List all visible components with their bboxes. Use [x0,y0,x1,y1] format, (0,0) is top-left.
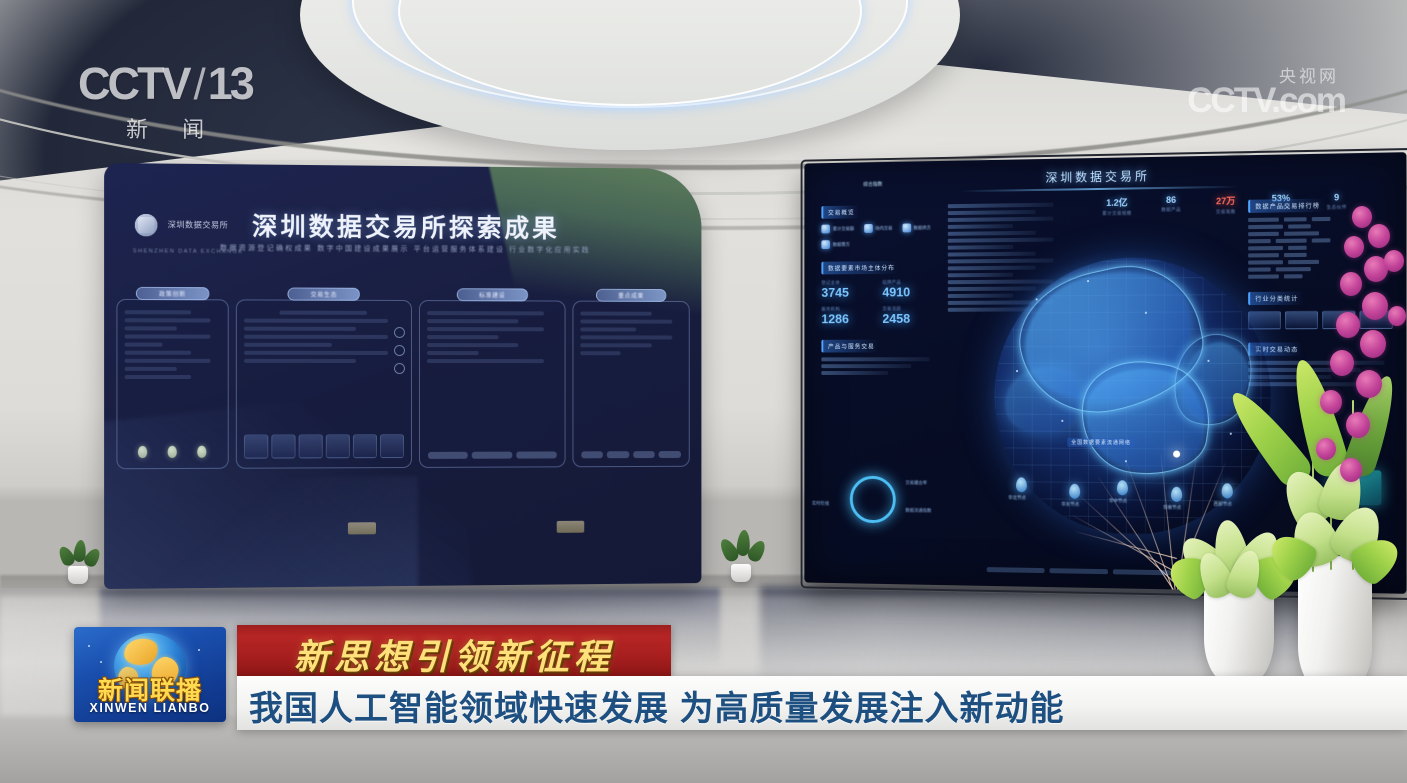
panel-line [427,351,479,355]
panel-chip [633,451,655,458]
map-pin-label: 华东节点 [1061,502,1079,508]
led-gauge-right-label-2: 数据流通指数 [905,508,931,514]
exhibit-panel-3-label: 标准建设 [419,290,565,300]
exhibit-panel-4-body [580,312,682,460]
flower-bloom [1368,224,1390,248]
led-metric: 数据供方 [902,223,931,232]
headline-bar: 我国人工智能领域快速发展 为高质量发展注入新动能 [237,676,1407,730]
metric-icon [821,225,830,234]
led-kpi: 1.2亿 累计交易规模 [1095,195,1139,217]
led-gauge-right-label-1: 交易撮合率 [905,480,927,486]
small-pot-left [68,566,88,584]
led-kpi: 27万 交易笔数 [1203,194,1248,216]
panel-chip [472,452,512,459]
panel-chip [659,451,681,458]
panel-line [427,327,545,331]
broadcast-frame: 深圳数据交易所 SHENZHEN DATA EXCHANGE 深圳数据交易所探索… [0,0,1407,783]
exhibit-wall-plaque [557,521,585,533]
circle-icon [394,345,405,356]
badge-star [198,649,200,651]
metric-label: 数据供方 [914,225,931,231]
panel-line [125,359,211,363]
exhibit-panel-2-label: 交易生态 [235,289,411,299]
map-hub-node [1173,451,1180,458]
led-globe-visualization: 全国数据要素流通网络 华北节点 华东节点 华中节点 华南节点 西部节点 [977,248,1297,543]
led-row [948,217,1054,222]
metric-label: 数据需方 [833,241,850,247]
led-cell [1276,239,1307,243]
panel-chip [516,451,556,458]
flower-bloom [1330,350,1354,376]
led-kpi: 86 数据产品 [1149,195,1193,214]
map-pin [1016,477,1027,492]
panel-line [243,335,387,339]
exhibit-panel-4-card [572,301,690,468]
panel-line [125,310,192,314]
map-pin [1222,483,1233,498]
panel-line [580,335,672,339]
led-cell [1288,224,1311,228]
circle-icon [394,363,405,374]
flower-bloom [1362,292,1388,320]
metric-icon [821,240,830,249]
badge-star [100,661,102,663]
globe-star [1087,280,1089,282]
globe-star [1207,360,1209,362]
panel-chip [607,451,629,458]
panel-line [580,343,652,347]
map-pin [1171,487,1182,502]
exhibit-panel-4: 重点成果 [572,289,690,468]
flower-bloom [1346,412,1370,438]
panel-line [427,319,519,323]
headline-text: 我国人工智能领域快速发展 为高质量发展注入新动能 [249,681,1407,730]
exhibit-panel-4-label: 重点成果 [572,291,690,300]
panel-line [427,335,499,339]
flower-bloom [1344,236,1364,258]
flower-bloom [1336,312,1360,338]
panel-line [125,334,211,338]
panel-line [125,343,163,347]
small-pot-center [731,564,751,582]
metric-icon [902,223,911,232]
panel-line [243,343,331,347]
led-gauge-left-label: 实时在线 [812,501,829,507]
led-kpi-value: 27万 [1203,194,1248,208]
led-metric: 数据需方 [821,240,849,249]
flower-bloom [1316,438,1336,460]
led-kpi-value: 86 [1149,195,1193,206]
flower-bloom [1360,330,1386,358]
led-kpi-value: 1.2亿 [1095,195,1139,209]
flower-bloom [1320,390,1342,414]
flower-bloom [1340,458,1362,482]
exhibit-panel-1-label: 政策创新 [116,289,228,299]
led-footer-cell [1049,568,1107,574]
exhibit-title: 深圳数据交易所探索成果 [104,206,701,246]
led-row [948,238,1054,243]
exhibit-wall-plaque [348,522,376,534]
map-pin [1069,484,1080,499]
map-pin-label: 华北节点 [1008,495,1026,501]
led-kpi-label: 数据产品 [1149,207,1193,214]
led-cell [1284,217,1307,221]
flower-bloom [1384,250,1404,272]
map-flow-beam [1076,531,1177,559]
led-cell [1248,239,1271,243]
map-pin-label: 华南节点 [1163,505,1181,511]
led-kpi-label: 累计交易规模 [1095,210,1139,217]
globe-star [1036,298,1038,300]
globe-star [1016,370,1018,372]
led-cell [1248,232,1279,236]
exhibit-panel-4-chips [581,451,681,458]
map-region-caption: 全国数据要素流通网络 [1067,438,1135,447]
panel-line [580,351,621,355]
badge-star [88,645,90,647]
led-cell [1312,217,1331,221]
panel-line [243,359,355,363]
led-footer-cell [1112,569,1171,575]
flower-bloom [1352,206,1372,228]
led-cell [1284,231,1319,235]
globe-star [1230,433,1232,435]
panel-line [243,327,355,331]
led-cell [1312,238,1331,242]
panel-line [580,312,652,316]
led-card-header: 数据产品交易排行榜 [1248,199,1325,213]
xinwen-lianbo-badge: 新闻联播 XINWEN LIANBO [74,627,226,722]
panel-line [243,351,387,355]
led-row [948,231,1036,236]
led-row [948,203,1054,209]
panel-line [580,327,636,331]
badge-program-name-en: XINWEN LIANBO [74,701,226,715]
globe-star [1145,312,1147,314]
panel-line [427,311,545,315]
panel-line [125,367,178,371]
led-cell [1248,218,1279,222]
panel-line [125,318,211,322]
flower-bloom [1340,272,1362,296]
map-pin [1117,480,1128,495]
panel-line [279,311,367,315]
panel-line [427,359,545,363]
topic-banner-text: 新思想引领新征程 [237,629,671,680]
map-pin-label: 华中节点 [1109,498,1127,504]
led-row [948,245,1013,250]
panel-line [580,319,672,323]
panel-line [427,343,519,347]
led-kpi-label: 交易笔数 [1203,209,1248,216]
panel-line [125,375,192,379]
led-gauge-center-label: 综合指数 [850,180,896,523]
led-row [948,224,1013,229]
map-pin-label: 西部节点 [1214,501,1232,507]
panel-line [243,319,387,323]
led-footer-cell [987,567,1045,573]
panel-line [125,351,192,355]
exhibit-panel-2-icon-stack [394,327,405,374]
circle-icon [394,327,405,338]
exhibit-wall-panel: 深圳数据交易所 SHENZHEN DATA EXCHANGE 深圳数据交易所探索… [104,163,701,589]
globe-star [1061,420,1063,422]
led-wall-title: 深圳数据交易所 [1046,167,1150,186]
led-cell [1248,225,1283,229]
panel-chip [581,451,603,458]
led-wall-title-underline [960,186,1239,192]
panel-line [125,326,178,330]
flower-bloom [1388,306,1406,326]
led-row [948,210,1036,215]
flower-bloom [1356,370,1382,398]
